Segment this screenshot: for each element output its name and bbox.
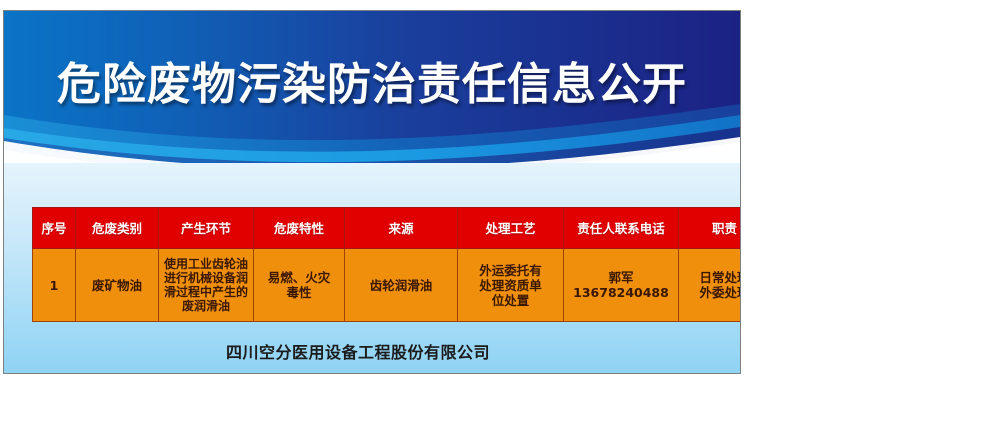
information-poster: 危险废物污染防治责任信息公开 序号 危废类别 产生环节 危废特性 来源 处理工艺… xyxy=(3,10,741,374)
cell-contact: 郭军 13678240488 xyxy=(564,249,679,322)
column-header-process: 处理工艺 xyxy=(458,208,564,249)
column-header-property: 危废特性 xyxy=(254,208,345,249)
cell-source: 齿轮润滑油 xyxy=(345,249,458,322)
column-header-category: 危废类别 xyxy=(76,208,159,249)
cell-process-line-2: 处理资质单 xyxy=(461,278,560,293)
cell-duty: 日常处理 外委处理 xyxy=(679,249,742,322)
cell-category: 废矿物油 xyxy=(76,249,159,322)
cell-property-line-1: 易燃、火灾 xyxy=(257,270,341,285)
cell-process-line-3: 位处置 xyxy=(461,293,560,308)
column-header-contact: 责任人联系电话 xyxy=(564,208,679,249)
company-name: 四川空分医用设备工程股份有限公司 xyxy=(4,339,740,363)
column-header-seq: 序号 xyxy=(33,208,76,249)
page-title: 危险废物污染防治责任信息公开 xyxy=(4,59,740,111)
table-row: 1 废矿物油 使用工业齿轮油进行机械设备润滑过程中产生的废润滑油 易燃、火灾 毒… xyxy=(33,249,742,322)
cell-duty-line-2: 外委处理 xyxy=(682,285,741,300)
table-header: 序号 危废类别 产生环节 危废特性 来源 处理工艺 责任人联系电话 职责 xyxy=(33,208,742,249)
cell-stage: 使用工业齿轮油进行机械设备润滑过程中产生的废润滑油 xyxy=(159,249,254,322)
cell-seq: 1 xyxy=(33,249,76,322)
cell-process-line-1: 外运委托有 xyxy=(461,263,560,278)
cell-duty-line-1: 日常处理 xyxy=(682,270,741,285)
table-header-row: 序号 危废类别 产生环节 危废特性 来源 处理工艺 责任人联系电话 职责 xyxy=(33,208,742,249)
column-header-stage: 产生环节 xyxy=(159,208,254,249)
header-banner: 危险废物污染防治责任信息公开 xyxy=(4,11,740,163)
cell-property-line-2: 毒性 xyxy=(257,285,341,300)
cell-contact-name: 郭军 xyxy=(567,270,675,285)
cell-contact-phone: 13678240488 xyxy=(567,285,675,300)
cell-property: 易燃、火灾 毒性 xyxy=(254,249,345,322)
cell-process: 外运委托有 处理资质单 位处置 xyxy=(458,249,564,322)
table-body: 1 废矿物油 使用工业齿轮油进行机械设备润滑过程中产生的废润滑油 易燃、火灾 毒… xyxy=(33,249,742,322)
column-header-source: 来源 xyxy=(345,208,458,249)
column-header-duty: 职责 xyxy=(679,208,742,249)
hazardous-waste-table: 序号 危废类别 产生环节 危废特性 来源 处理工艺 责任人联系电话 职责 1 废… xyxy=(32,207,741,322)
